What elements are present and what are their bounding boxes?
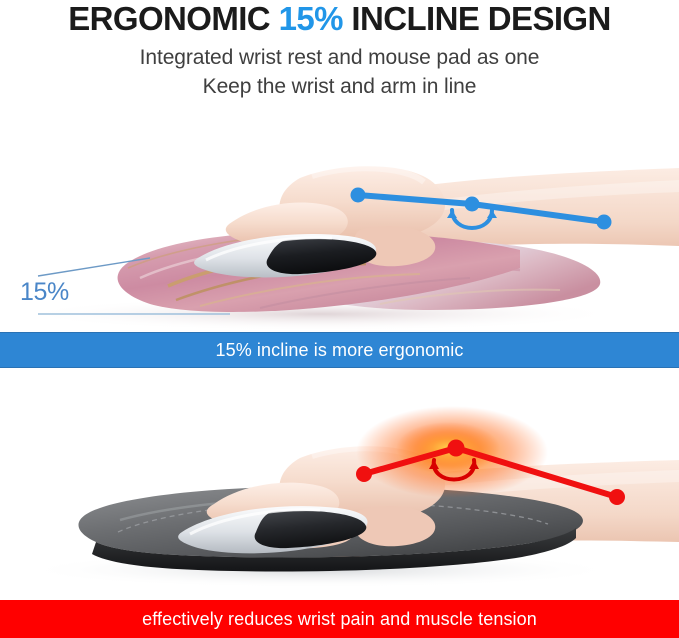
- product-feature-image: ERGONOMIC 15% INCLINE DESIGN Integrated …: [0, 0, 679, 638]
- incline-percentage-label: 15%: [20, 278, 69, 307]
- subtitle-line-1: Integrated wrist rest and mouse pad as o…: [0, 37, 679, 72]
- alignment-node-elbow: [351, 188, 366, 203]
- alignment-node-hand: [597, 215, 612, 230]
- banner-pain-reduction: effectively reduces wrist pain and muscl…: [0, 600, 679, 638]
- misalignment-node-wrist: [448, 440, 465, 457]
- banner-red-label: effectively reduces wrist pain and muscl…: [142, 609, 537, 630]
- photo-flat-pad-comparison: [0, 380, 679, 600]
- banner-blue-label: 15% incline is more ergonomic: [215, 340, 463, 361]
- headline-part-2: INCLINE DESIGN: [343, 0, 611, 37]
- headline-part-1: ERGONOMIC: [68, 0, 278, 37]
- subtitle-line-2: Keep the wrist and arm in line: [0, 72, 679, 101]
- incline-angle-callout: 15%: [6, 258, 156, 330]
- banner-ergonomic-benefit: 15% incline is more ergonomic: [0, 332, 679, 368]
- header: ERGONOMIC 15% INCLINE DESIGN Integrated …: [0, 0, 679, 118]
- misalignment-node-hand: [609, 489, 625, 505]
- bottom-photo-illustration: [0, 380, 679, 600]
- page-title: ERGONOMIC 15% INCLINE DESIGN: [0, 0, 679, 37]
- alignment-node-wrist: [465, 197, 480, 212]
- headline-accent-15-percent: 15%: [279, 0, 343, 37]
- misalignment-node-elbow: [356, 466, 372, 482]
